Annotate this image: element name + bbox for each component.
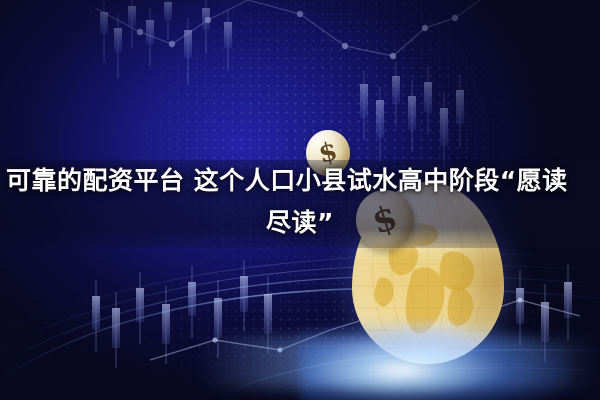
- candlestick-group-mid: [360, 62, 464, 170]
- headline-line-2: 尽读”: [6, 202, 594, 244]
- base-glow: [300, 322, 570, 400]
- headline-line-1: 可靠的配资平台 这个人口小县试水高中阶段“愿读: [6, 160, 594, 202]
- banner-headline: 可靠的配资平台 这个人口小县试水高中阶段“愿读 尽读”: [0, 160, 600, 244]
- banner-image: $ $ 可靠的配资平台 这个人口小县试水高中阶段“愿读 尽读”: [0, 0, 600, 400]
